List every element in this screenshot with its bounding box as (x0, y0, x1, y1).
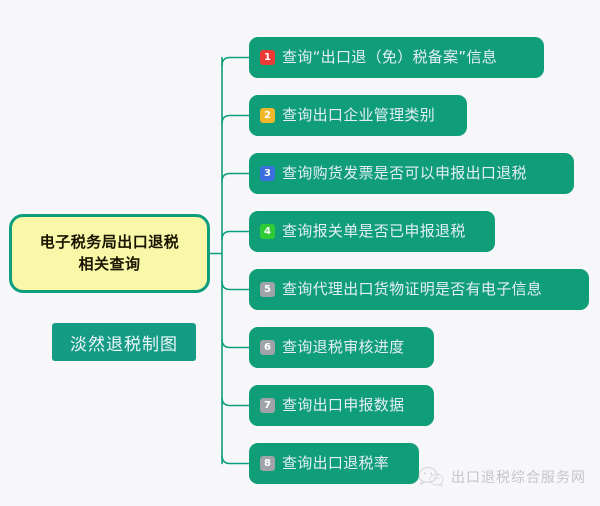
branch-badge-2: 2 (260, 108, 275, 123)
branch-node-8[interactable]: 8查询出口退税率 (249, 443, 419, 484)
connector-path (222, 232, 249, 240)
branch-label-6: 查询退税审核进度 (282, 340, 404, 355)
branch-node-2[interactable]: 2查询出口企业管理类别 (249, 95, 467, 136)
branch-label-2: 查询出口企业管理类别 (282, 108, 435, 123)
branch-label-8: 查询出口退税率 (282, 456, 389, 471)
branch-label-3: 查询购货发票是否可以申报出口退税 (282, 166, 527, 181)
branch-node-6[interactable]: 6查询退税审核进度 (249, 327, 434, 368)
branch-node-1[interactable]: 1查询“出口退（免）税备案”信息 (249, 37, 544, 78)
branch-badge-1: 1 (260, 50, 275, 65)
wechat-icon (418, 466, 444, 488)
branch-label-4: 查询报关单是否已申报退税 (282, 224, 466, 239)
credit-box: 淡然退税制图 (52, 323, 196, 361)
branch-badge-5: 5 (260, 282, 275, 297)
branch-node-3[interactable]: 3查询购货发票是否可以申报出口退税 (249, 153, 574, 194)
footer-watermark: 出口退税综合服务网 (418, 466, 586, 488)
branch-node-5[interactable]: 5查询代理出口货物证明是否有电子信息 (249, 269, 589, 310)
connector-path (222, 282, 249, 290)
branch-node-7[interactable]: 7查询出口申报数据 (249, 385, 434, 426)
branch-label-5: 查询代理出口货物证明是否有电子信息 (282, 282, 542, 297)
root-node-label: 电子税务局出口退税 相关查询 (30, 232, 190, 276)
connector-path (222, 174, 249, 182)
branch-label-1: 查询“出口退（免）税备案”信息 (282, 50, 497, 65)
credit-label: 淡然退税制图 (70, 330, 178, 355)
mindmap-canvas: 电子税务局出口退税 相关查询 淡然退税制图 1查询“出口退（免）税备案”信息2查… (0, 0, 600, 506)
watermark-label: 出口退税综合服务网 (451, 467, 586, 487)
branch-badge-3: 3 (260, 166, 275, 181)
branch-node-4[interactable]: 4查询报关单是否已申报退税 (249, 211, 495, 252)
branch-label-7: 查询出口申报数据 (282, 398, 404, 413)
connector-path (222, 340, 249, 348)
branch-badge-7: 7 (260, 398, 275, 413)
connector-path (222, 116, 249, 124)
connector-path (222, 456, 249, 464)
connector-path (222, 398, 249, 406)
branch-badge-6: 6 (260, 340, 275, 355)
connector-path (222, 58, 249, 66)
root-node[interactable]: 电子税务局出口退税 相关查询 (9, 214, 210, 293)
branch-badge-4: 4 (260, 224, 275, 239)
branch-badge-8: 8 (260, 456, 275, 471)
